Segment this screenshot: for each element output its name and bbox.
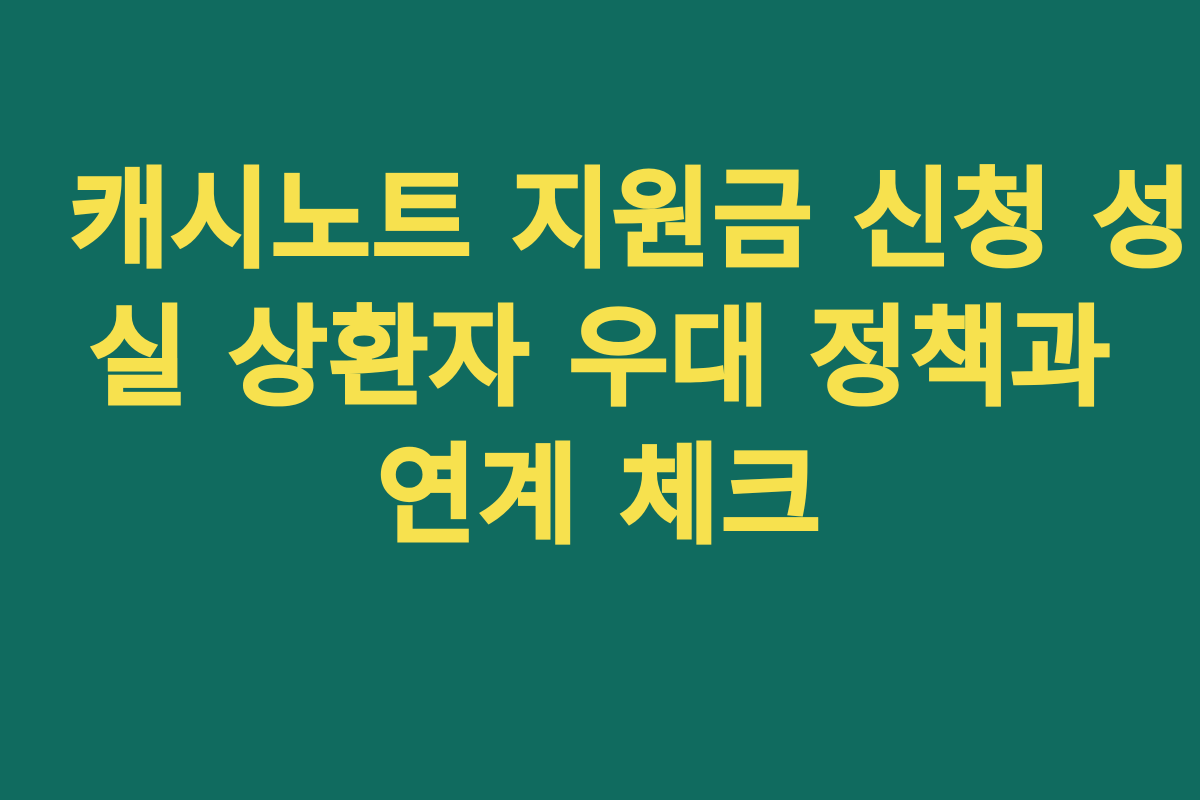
headline-line-1: 캐시노트 지원금 신청 성 <box>70 152 1130 290</box>
headline-line-3: 연계 체크 <box>70 428 1130 566</box>
headline-line-2: 실 상환자 우대 정책과 <box>70 290 1130 428</box>
banner-canvas: 캐시노트 지원금 신청 성 실 상환자 우대 정책과 연계 체크 <box>0 0 1200 800</box>
headline-block: 캐시노트 지원금 신청 성 실 상환자 우대 정책과 연계 체크 <box>70 152 1130 567</box>
